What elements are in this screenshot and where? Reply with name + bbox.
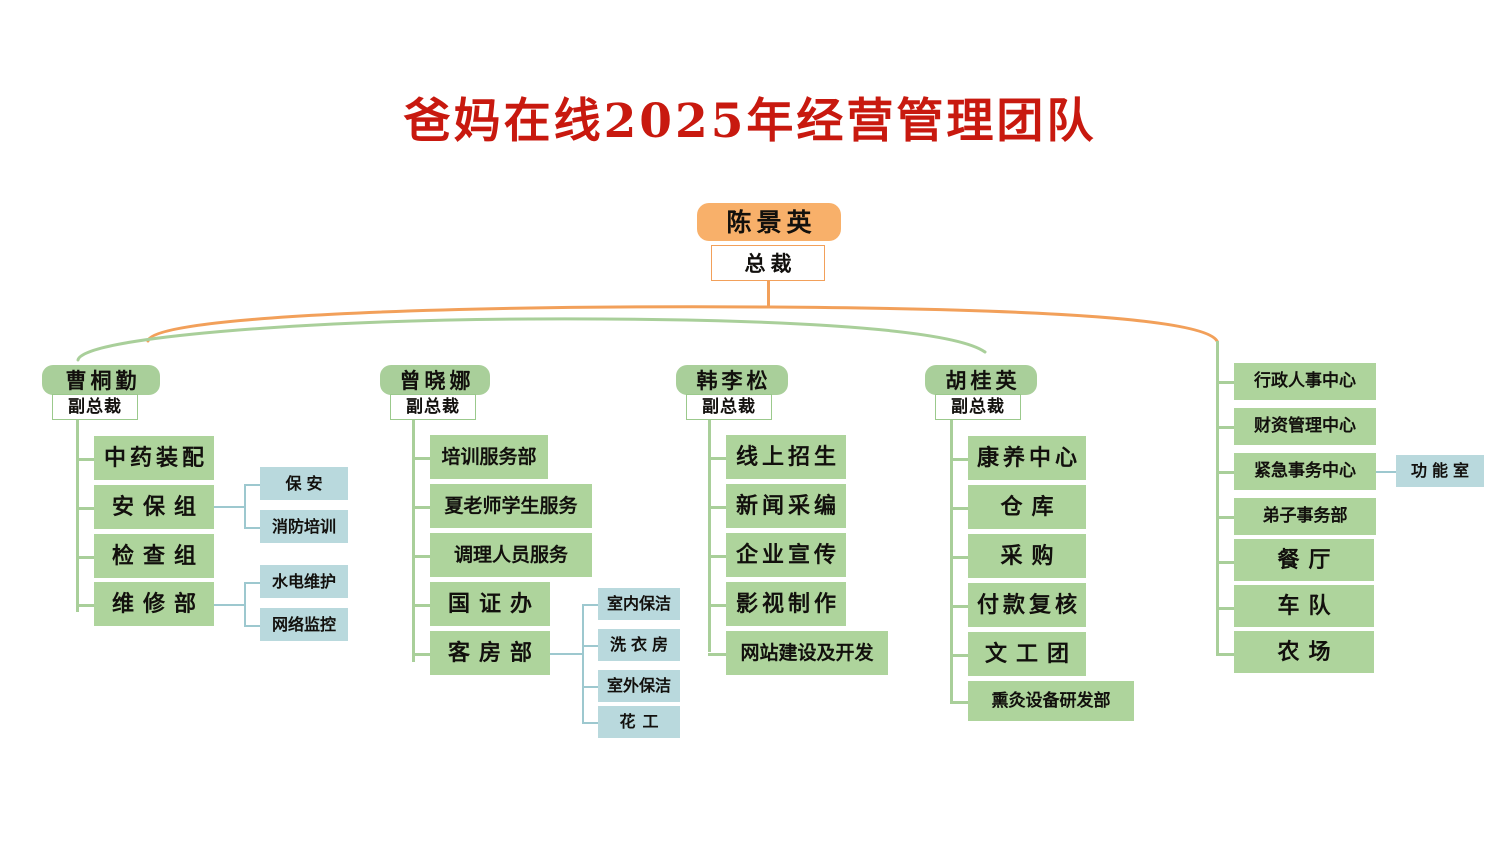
sub-tick-1-4-1 [244, 582, 260, 584]
dept-box-2-4[interactable]: 国证办 [430, 582, 550, 626]
dept-box-4-1[interactable]: 康养中心 [968, 436, 1086, 480]
tick-1-2 [76, 507, 94, 510]
sub-tick-2-5-2 [582, 645, 598, 647]
dept-box-1-4[interactable]: 维修部 [94, 582, 214, 626]
sub-tick-1-2-1 [244, 484, 260, 486]
dept-box-4-5[interactable]: 文工团 [968, 632, 1086, 676]
tick-5-5 [1216, 561, 1234, 564]
ceo-name-box[interactable]: 陈景英 [697, 203, 841, 241]
tick-3-3 [708, 555, 726, 558]
tick-3-5 [708, 653, 726, 656]
tick-3-1 [708, 457, 726, 460]
vp-title-box-1[interactable]: 副总裁 [52, 394, 138, 420]
dept-box-2-3[interactable]: 调理人员服务 [430, 533, 592, 577]
vp-name-box-1[interactable]: 曹桐勤 [42, 365, 160, 395]
sub-box-2-5-3[interactable]: 室外保洁 [598, 670, 680, 702]
tick-4-1 [950, 458, 968, 461]
sub-box-1-4-1[interactable]: 水电维护 [260, 565, 348, 598]
dept-box-2-2[interactable]: 夏老师学生服务 [430, 484, 592, 528]
dept-box-5-4[interactable]: 弟子事务部 [1234, 498, 1376, 535]
tick-2-5 [412, 653, 430, 656]
tick-5-4 [1216, 516, 1234, 519]
tick-5-1 [1216, 381, 1234, 384]
tick-4-4 [950, 605, 968, 608]
dept-box-5-1[interactable]: 行政人事中心 [1234, 363, 1376, 400]
tick-5-3 [1216, 471, 1234, 474]
dept-box-5-3[interactable]: 紧急事务中心 [1234, 453, 1376, 490]
dept-box-5-6[interactable]: 车队 [1234, 585, 1374, 627]
tick-5-7 [1216, 653, 1234, 656]
dept-box-4-2[interactable]: 仓库 [968, 485, 1086, 529]
tick-2-3 [412, 555, 430, 558]
vp-title-box-3[interactable]: 副总裁 [686, 394, 772, 420]
sub-tick-1-2-2 [244, 527, 260, 529]
tick-4-6 [950, 701, 968, 704]
tick-2-2 [412, 506, 430, 509]
sub-spine-2-5 [582, 604, 584, 722]
dept-box-4-3[interactable]: 采购 [968, 534, 1086, 578]
tick-3-4 [708, 604, 726, 607]
sub-link-1-4 [214, 604, 244, 606]
vp-name-box-2[interactable]: 曾晓娜 [380, 365, 490, 395]
spine-3 [708, 420, 711, 652]
sub-box-1-4-2[interactable]: 网络监控 [260, 608, 348, 641]
spine-4 [950, 420, 953, 702]
tick-4-5 [950, 654, 968, 657]
sub-box-1-2-2[interactable]: 消防培训 [260, 510, 348, 543]
dept-box-3-4[interactable]: 影视制作 [726, 582, 846, 626]
ceo-stem [767, 281, 770, 308]
vp-name-box-4[interactable]: 胡桂英 [925, 365, 1037, 395]
dept-box-5-7[interactable]: 农场 [1234, 631, 1374, 673]
sub-spine-1-2 [244, 484, 246, 528]
ceo-arc-orange [148, 307, 1217, 341]
dept-box-4-4[interactable]: 付款复核 [968, 583, 1086, 627]
sub-link-1-2 [214, 506, 244, 508]
sub-box-2-5-2[interactable]: 洗衣房 [598, 629, 680, 661]
tick-1-4 [76, 604, 94, 607]
dept-box-1-2[interactable]: 安保组 [94, 485, 214, 529]
sub-tick-2-5-3 [582, 686, 598, 688]
sub-link-2-5 [550, 653, 582, 655]
sub-box-2-5-1[interactable]: 室内保洁 [598, 588, 680, 620]
dept-box-4-6[interactable]: 熏灸设备研发部 [968, 681, 1134, 721]
org-chart-canvas: 爸妈在线2025年经营管理团队 陈景英 总裁 曹桐勤 副总裁 中药装配 安保组 … [0, 0, 1500, 860]
dept-box-2-1[interactable]: 培训服务部 [430, 435, 548, 479]
sub-tick-1-4-2 [244, 625, 260, 627]
dept-box-2-5[interactable]: 客房部 [430, 631, 550, 675]
tick-2-4 [412, 604, 430, 607]
sub-tick-2-5-4 [582, 722, 598, 724]
sub-box-2-5-4[interactable]: 花工 [598, 706, 680, 738]
dept-box-3-1[interactable]: 线上招生 [726, 435, 846, 479]
vp-name-box-3[interactable]: 韩李松 [676, 365, 788, 395]
tick-1-1 [76, 458, 94, 461]
sub-link-5-3 [1376, 471, 1396, 473]
tick-4-2 [950, 507, 968, 510]
dept-box-5-5[interactable]: 餐厅 [1234, 539, 1374, 581]
spine-1 [76, 420, 79, 612]
sub-spine-1-4 [244, 582, 246, 626]
vp-arc-green [78, 319, 985, 360]
dept-box-1-3[interactable]: 检查组 [94, 534, 214, 578]
tick-5-2 [1216, 426, 1234, 429]
tick-3-2 [708, 506, 726, 509]
dept-box-5-2[interactable]: 财资管理中心 [1234, 408, 1376, 445]
tick-1-3 [76, 556, 94, 559]
vp-title-box-4[interactable]: 副总裁 [935, 394, 1021, 420]
vp-title-box-2[interactable]: 副总裁 [390, 394, 476, 420]
sub-box-5-3-1[interactable]: 功能室 [1396, 455, 1484, 487]
sub-box-1-2-1[interactable]: 保安 [260, 467, 348, 500]
dept-box-1-1[interactable]: 中药装配 [94, 436, 214, 480]
dept-box-3-3[interactable]: 企业宣传 [726, 533, 846, 577]
tick-4-3 [950, 556, 968, 559]
dept-box-3-5[interactable]: 网站建设及开发 [726, 631, 888, 675]
sub-tick-2-5-1 [582, 604, 598, 606]
ceo-title-box[interactable]: 总裁 [711, 245, 825, 281]
dept-box-3-2[interactable]: 新闻采编 [726, 484, 846, 528]
tick-5-6 [1216, 607, 1234, 610]
page-title: 爸妈在线2025年经营管理团队 [0, 82, 1500, 151]
tick-2-1 [412, 457, 430, 460]
